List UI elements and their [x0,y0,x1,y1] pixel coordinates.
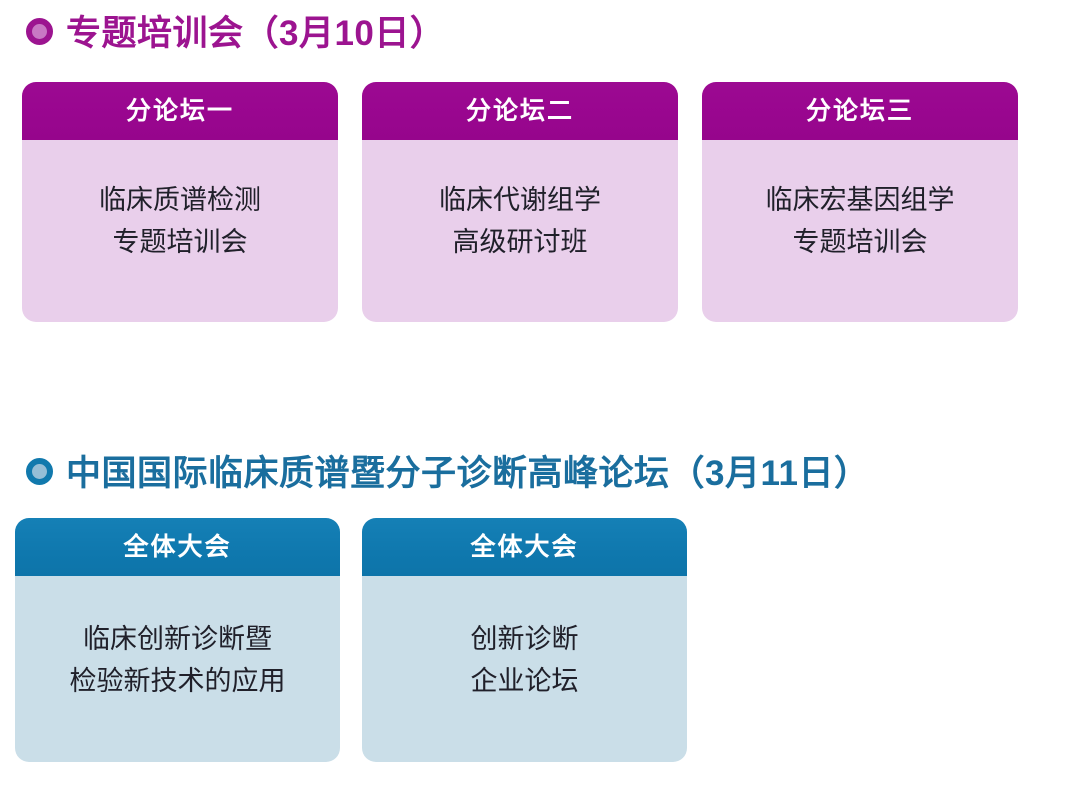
filled-circle-icon [26,458,53,485]
card-forum-1[interactable]: 分论坛一 临床质谱检测 专题培训会 [22,82,338,322]
card-forum-2-header: 分论坛二 [362,82,678,140]
card-row-training: 分论坛一 临床质谱检测 专题培训会 分论坛二 临床代谢组学 高级研讨班 分论坛三… [0,82,1071,322]
card-plenary-1-line-2: 检验新技术的应用 [70,660,286,702]
card-plenary-2-line-2: 企业论坛 [471,660,579,702]
card-forum-1-body: 临床质谱检测 专题培训会 [22,140,338,322]
card-forum-1-header: 分论坛一 [22,82,338,140]
card-forum-1-line-2: 专题培训会 [113,221,248,263]
card-forum-2[interactable]: 分论坛二 临床代谢组学 高级研讨班 [362,82,678,322]
card-forum-3-body: 临床宏基因组学 专题培训会 [702,140,1018,322]
card-forum-2-line-2: 高级研讨班 [453,221,588,263]
card-forum-3-header: 分论坛三 [702,82,1018,140]
section-heading-summit: 中国国际临床质谱暨分子诊断高峰论坛（3月11日） [0,440,1071,500]
section-title-summit: 中国国际临床质谱暨分子诊断高峰论坛（3月11日） [66,445,869,496]
card-row-summit: 全体大会 临床创新诊断暨 检验新技术的应用 全体大会 创新诊断 企业论坛 [0,518,1071,762]
card-forum-2-body: 临床代谢组学 高级研讨班 [362,140,678,322]
filled-circle-icon [26,18,53,45]
card-plenary-2[interactable]: 全体大会 创新诊断 企业论坛 [362,518,687,762]
section-training: 专题培训会（3月10日） 分论坛一 临床质谱检测 专题培训会 分论坛二 临床代谢… [0,0,1071,60]
card-forum-1-line-1: 临床质谱检测 [99,179,261,221]
card-plenary-2-header: 全体大会 [362,518,687,576]
card-forum-3[interactable]: 分论坛三 临床宏基因组学 专题培训会 [702,82,1018,322]
card-plenary-2-body: 创新诊断 企业论坛 [362,576,687,762]
card-plenary-2-line-1: 创新诊断 [471,618,579,660]
card-plenary-1-body: 临床创新诊断暨 检验新技术的应用 [15,576,340,762]
card-plenary-1[interactable]: 全体大会 临床创新诊断暨 检验新技术的应用 [15,518,340,762]
card-forum-2-line-1: 临床代谢组学 [439,179,601,221]
card-plenary-1-header: 全体大会 [15,518,340,576]
section-summit: 中国国际临床质谱暨分子诊断高峰论坛（3月11日） 全体大会 临床创新诊断暨 检验… [0,440,1071,500]
card-forum-3-line-1: 临床宏基因组学 [766,179,955,221]
section-heading-training: 专题培训会（3月10日） [0,0,1071,60]
card-plenary-1-line-1: 临床创新诊断暨 [83,618,272,660]
section-title-training: 专题培训会（3月10日） [66,5,445,56]
card-forum-3-line-2: 专题培训会 [793,221,928,263]
